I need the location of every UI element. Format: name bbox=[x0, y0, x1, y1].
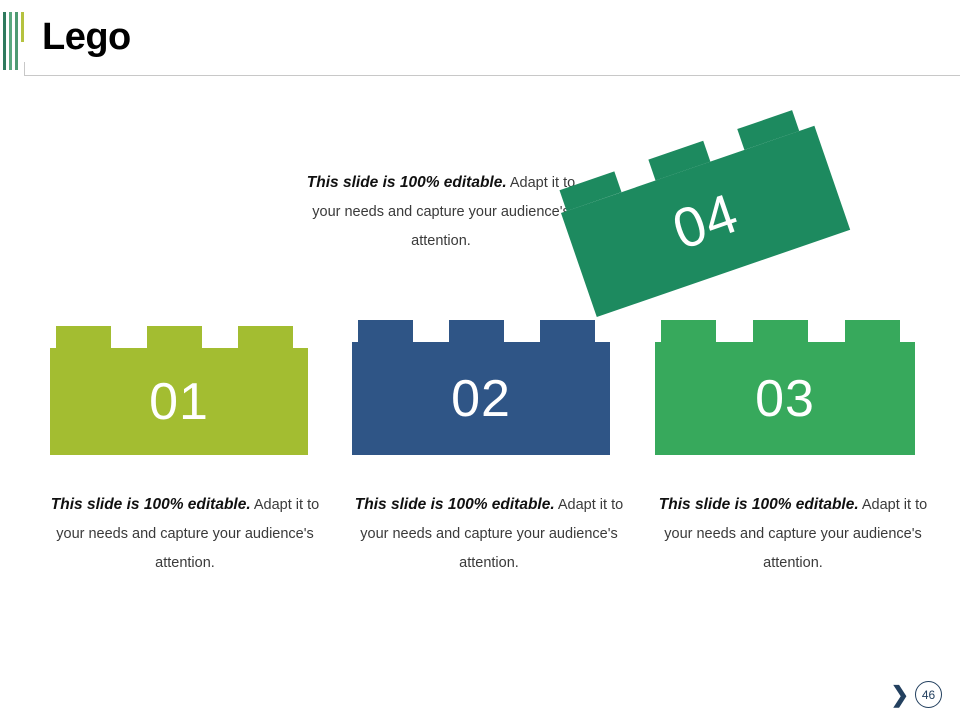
header-divider bbox=[24, 75, 960, 76]
description-lead-03: This slide is 100% editable. bbox=[659, 496, 859, 513]
description-text-03: This slide is 100% editable. Adapt it to… bbox=[648, 490, 938, 578]
lego-brick-04[interactable]: 04 bbox=[554, 105, 850, 317]
stud-1 bbox=[358, 320, 413, 342]
brick-studs-02 bbox=[352, 320, 610, 342]
page-number-badge: 46 bbox=[915, 681, 942, 708]
stud-3 bbox=[845, 320, 900, 342]
slide-footer: ❯ 46 bbox=[891, 681, 942, 708]
lego-brick-03[interactable]: 03 bbox=[655, 320, 915, 455]
stud-1 bbox=[56, 326, 111, 348]
chevron-right-icon[interactable]: ❯ bbox=[891, 684, 909, 706]
brick-studs-01 bbox=[50, 326, 308, 348]
accent-bar-4 bbox=[21, 12, 24, 42]
header-accent-bars bbox=[3, 12, 25, 70]
slide-header: Lego bbox=[0, 0, 960, 78]
brick-number-02: 02 bbox=[352, 342, 610, 455]
description-lead-04: This slide is 100% editable. bbox=[307, 174, 507, 191]
accent-bar-1 bbox=[3, 12, 6, 70]
stud-1 bbox=[661, 320, 716, 342]
brick-number-03: 03 bbox=[655, 342, 915, 455]
description-text-02: This slide is 100% editable. Adapt it to… bbox=[344, 490, 634, 578]
brick-number-01: 01 bbox=[50, 348, 308, 455]
stud-3 bbox=[540, 320, 595, 342]
stud-2 bbox=[753, 320, 808, 342]
description-lead-02: This slide is 100% editable. bbox=[355, 496, 555, 513]
stud-2 bbox=[147, 326, 202, 348]
description-lead-01: This slide is 100% editable. bbox=[51, 496, 251, 513]
lego-brick-02[interactable]: 02 bbox=[352, 320, 610, 455]
accent-bar-2 bbox=[9, 12, 12, 70]
lego-brick-01[interactable]: 01 bbox=[50, 326, 308, 455]
page-title: Lego bbox=[42, 14, 131, 60]
header-rule-tick bbox=[24, 62, 25, 76]
stud-2 bbox=[449, 320, 504, 342]
description-text-01: This slide is 100% editable. Adapt it to… bbox=[40, 490, 330, 578]
brick-studs-03 bbox=[655, 320, 915, 342]
stud-3 bbox=[238, 326, 293, 348]
description-text-04: This slide is 100% editable. Adapt it to… bbox=[296, 168, 586, 256]
accent-bar-3 bbox=[15, 12, 18, 70]
